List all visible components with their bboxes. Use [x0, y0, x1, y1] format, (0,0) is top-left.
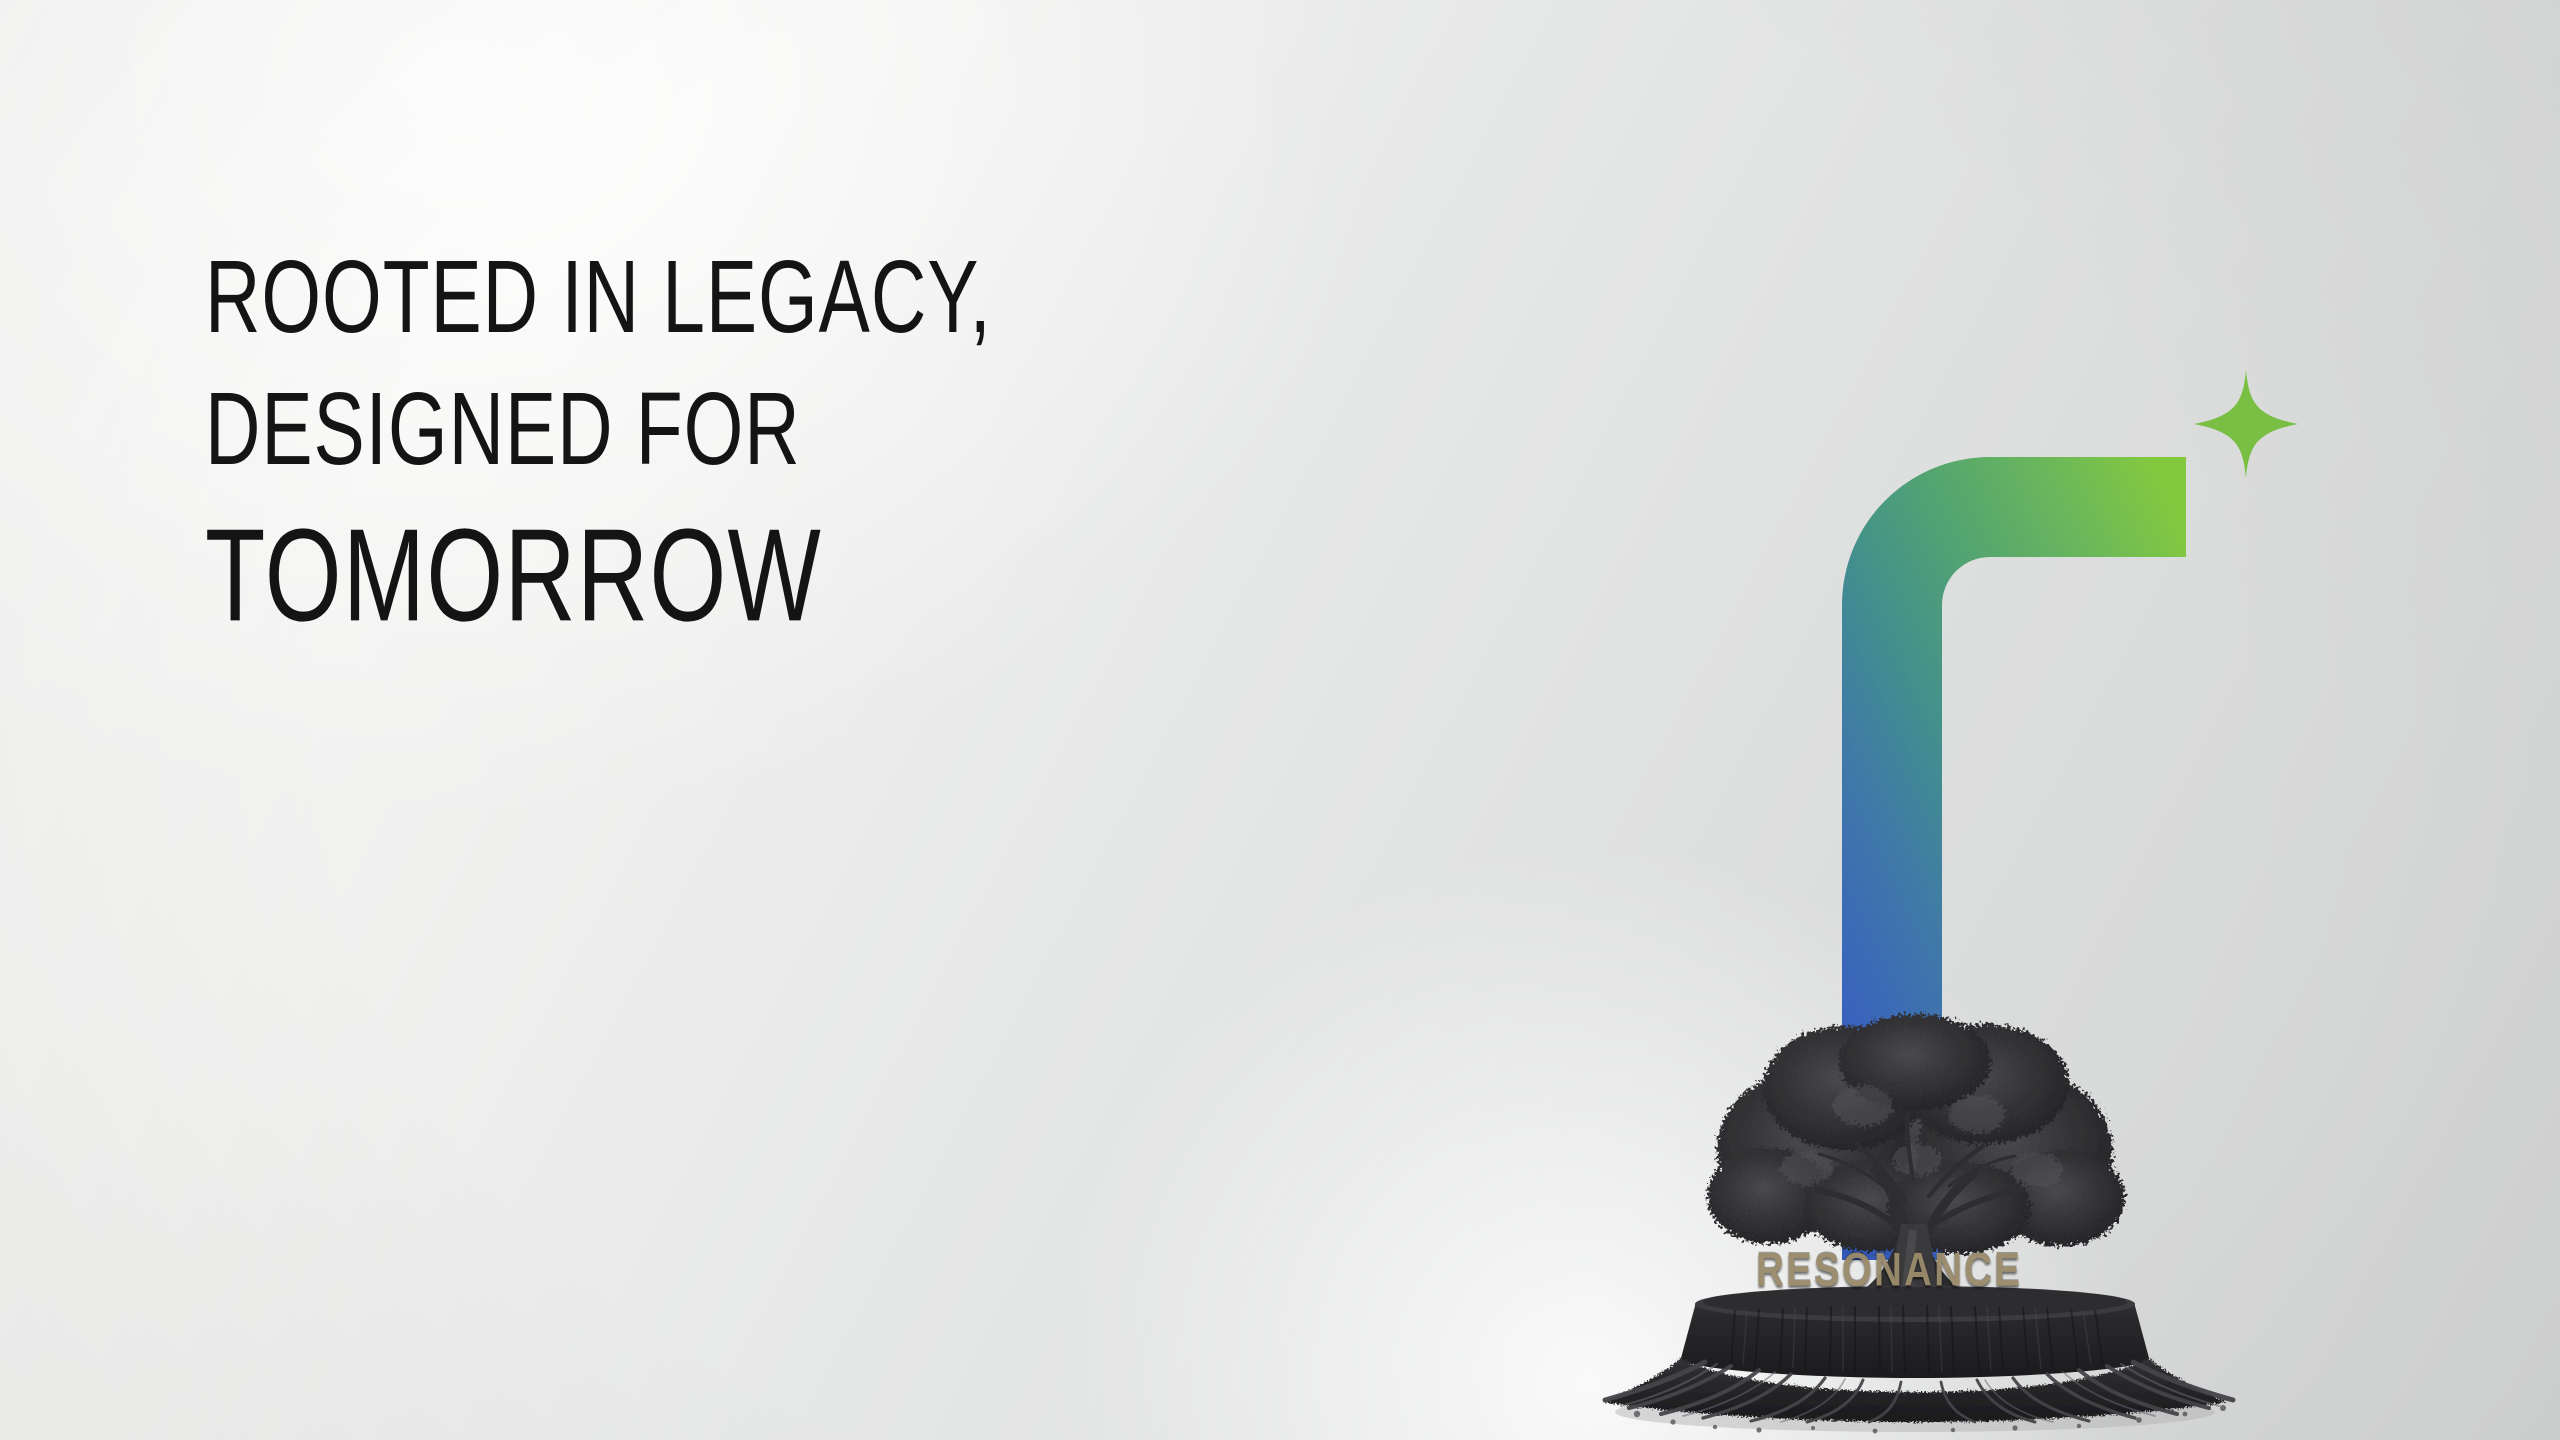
headline-line-2: DESIGNED FOR	[205, 379, 992, 482]
hero-canvas: ROOTED IN LEGACY, DESIGNED FOR TOMORROW	[0, 0, 2560, 1440]
oak-tree-on-stump-illustration	[1545, 1010, 2285, 1440]
four-point-sparkle-icon	[2192, 368, 2300, 480]
headline-line-3: TOMORROW	[205, 509, 1002, 641]
headline-line-1: ROOTED IN LEGACY,	[205, 247, 992, 350]
page-title: ROOTED IN LEGACY, DESIGNED FOR TOMORROW	[205, 250, 1188, 636]
